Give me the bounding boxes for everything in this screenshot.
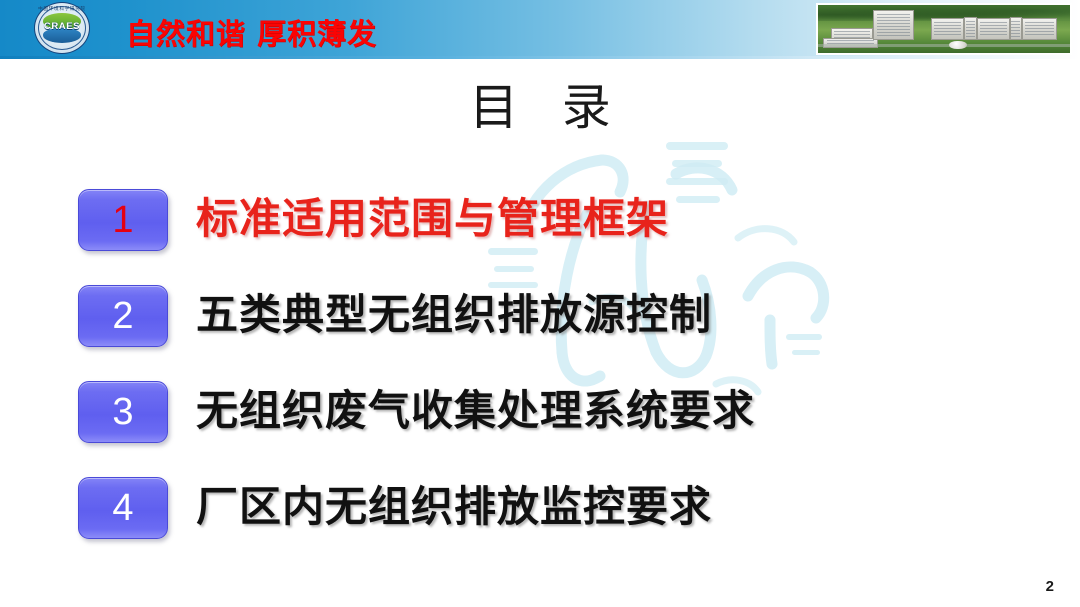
toc-badge-4[interactable]: 4 bbox=[78, 477, 168, 539]
toc-label-2[interactable]: 五类典型无组织排放源控制 bbox=[196, 281, 712, 349]
toc-item-1[interactable]: 1 标准适用范围与管理框架 bbox=[0, 185, 1080, 281]
photo-road bbox=[818, 44, 1070, 46]
photo-building-row-3 bbox=[977, 18, 1010, 39]
toc-badge-2[interactable]: 2 bbox=[78, 285, 168, 347]
slide-canvas: 中国环境科学研究院 CRAES 自然和谐 厚积薄发 目 录 bbox=[0, 0, 1080, 607]
photo-dome bbox=[949, 41, 967, 50]
toc-item-4[interactable]: 4 厂区内无组织排放监控要求 bbox=[0, 473, 1080, 569]
photo-building-row-1 bbox=[931, 18, 964, 39]
toc-list: 1 标准适用范围与管理框架 2 五类典型无组织排放源控制 3 无组织废气收集处理… bbox=[0, 185, 1080, 569]
header-slogan: 自然和谐 厚积薄发 bbox=[126, 11, 377, 53]
page-number: 2 bbox=[1046, 578, 1054, 595]
campus-aerial-photo bbox=[816, 3, 1072, 55]
craes-logo: 中国环境科学研究院 CRAES bbox=[34, 2, 92, 56]
header-banner: 中国环境科学研究院 CRAES 自然和谐 厚积薄发 bbox=[0, 0, 1080, 58]
logo-arc-top-text: 中国环境科学研究院 bbox=[34, 6, 90, 12]
toc-item-2[interactable]: 2 五类典型无组织排放源控制 bbox=[0, 281, 1080, 377]
photo-building-row-4 bbox=[1010, 17, 1023, 39]
photo-building-tower bbox=[873, 10, 913, 40]
page-title: 目 录 bbox=[0, 68, 1080, 139]
toc-badge-3[interactable]: 3 bbox=[78, 381, 168, 443]
toc-label-4[interactable]: 厂区内无组织排放监控要求 bbox=[196, 473, 712, 541]
photo-building-row-5 bbox=[1022, 18, 1057, 39]
header-bottom-strip bbox=[0, 56, 1080, 59]
toc-badge-1[interactable]: 1 bbox=[78, 189, 168, 251]
toc-label-1[interactable]: 标准适用范围与管理框架 bbox=[196, 185, 669, 253]
toc-item-3[interactable]: 3 无组织废气收集处理系统要求 bbox=[0, 377, 1080, 473]
photo-building-row-2 bbox=[964, 17, 977, 39]
photo-inner bbox=[818, 5, 1070, 53]
toc-label-3[interactable]: 无组织废气收集处理系统要求 bbox=[196, 377, 755, 445]
logo-acronym-text: CRAES bbox=[34, 21, 90, 32]
